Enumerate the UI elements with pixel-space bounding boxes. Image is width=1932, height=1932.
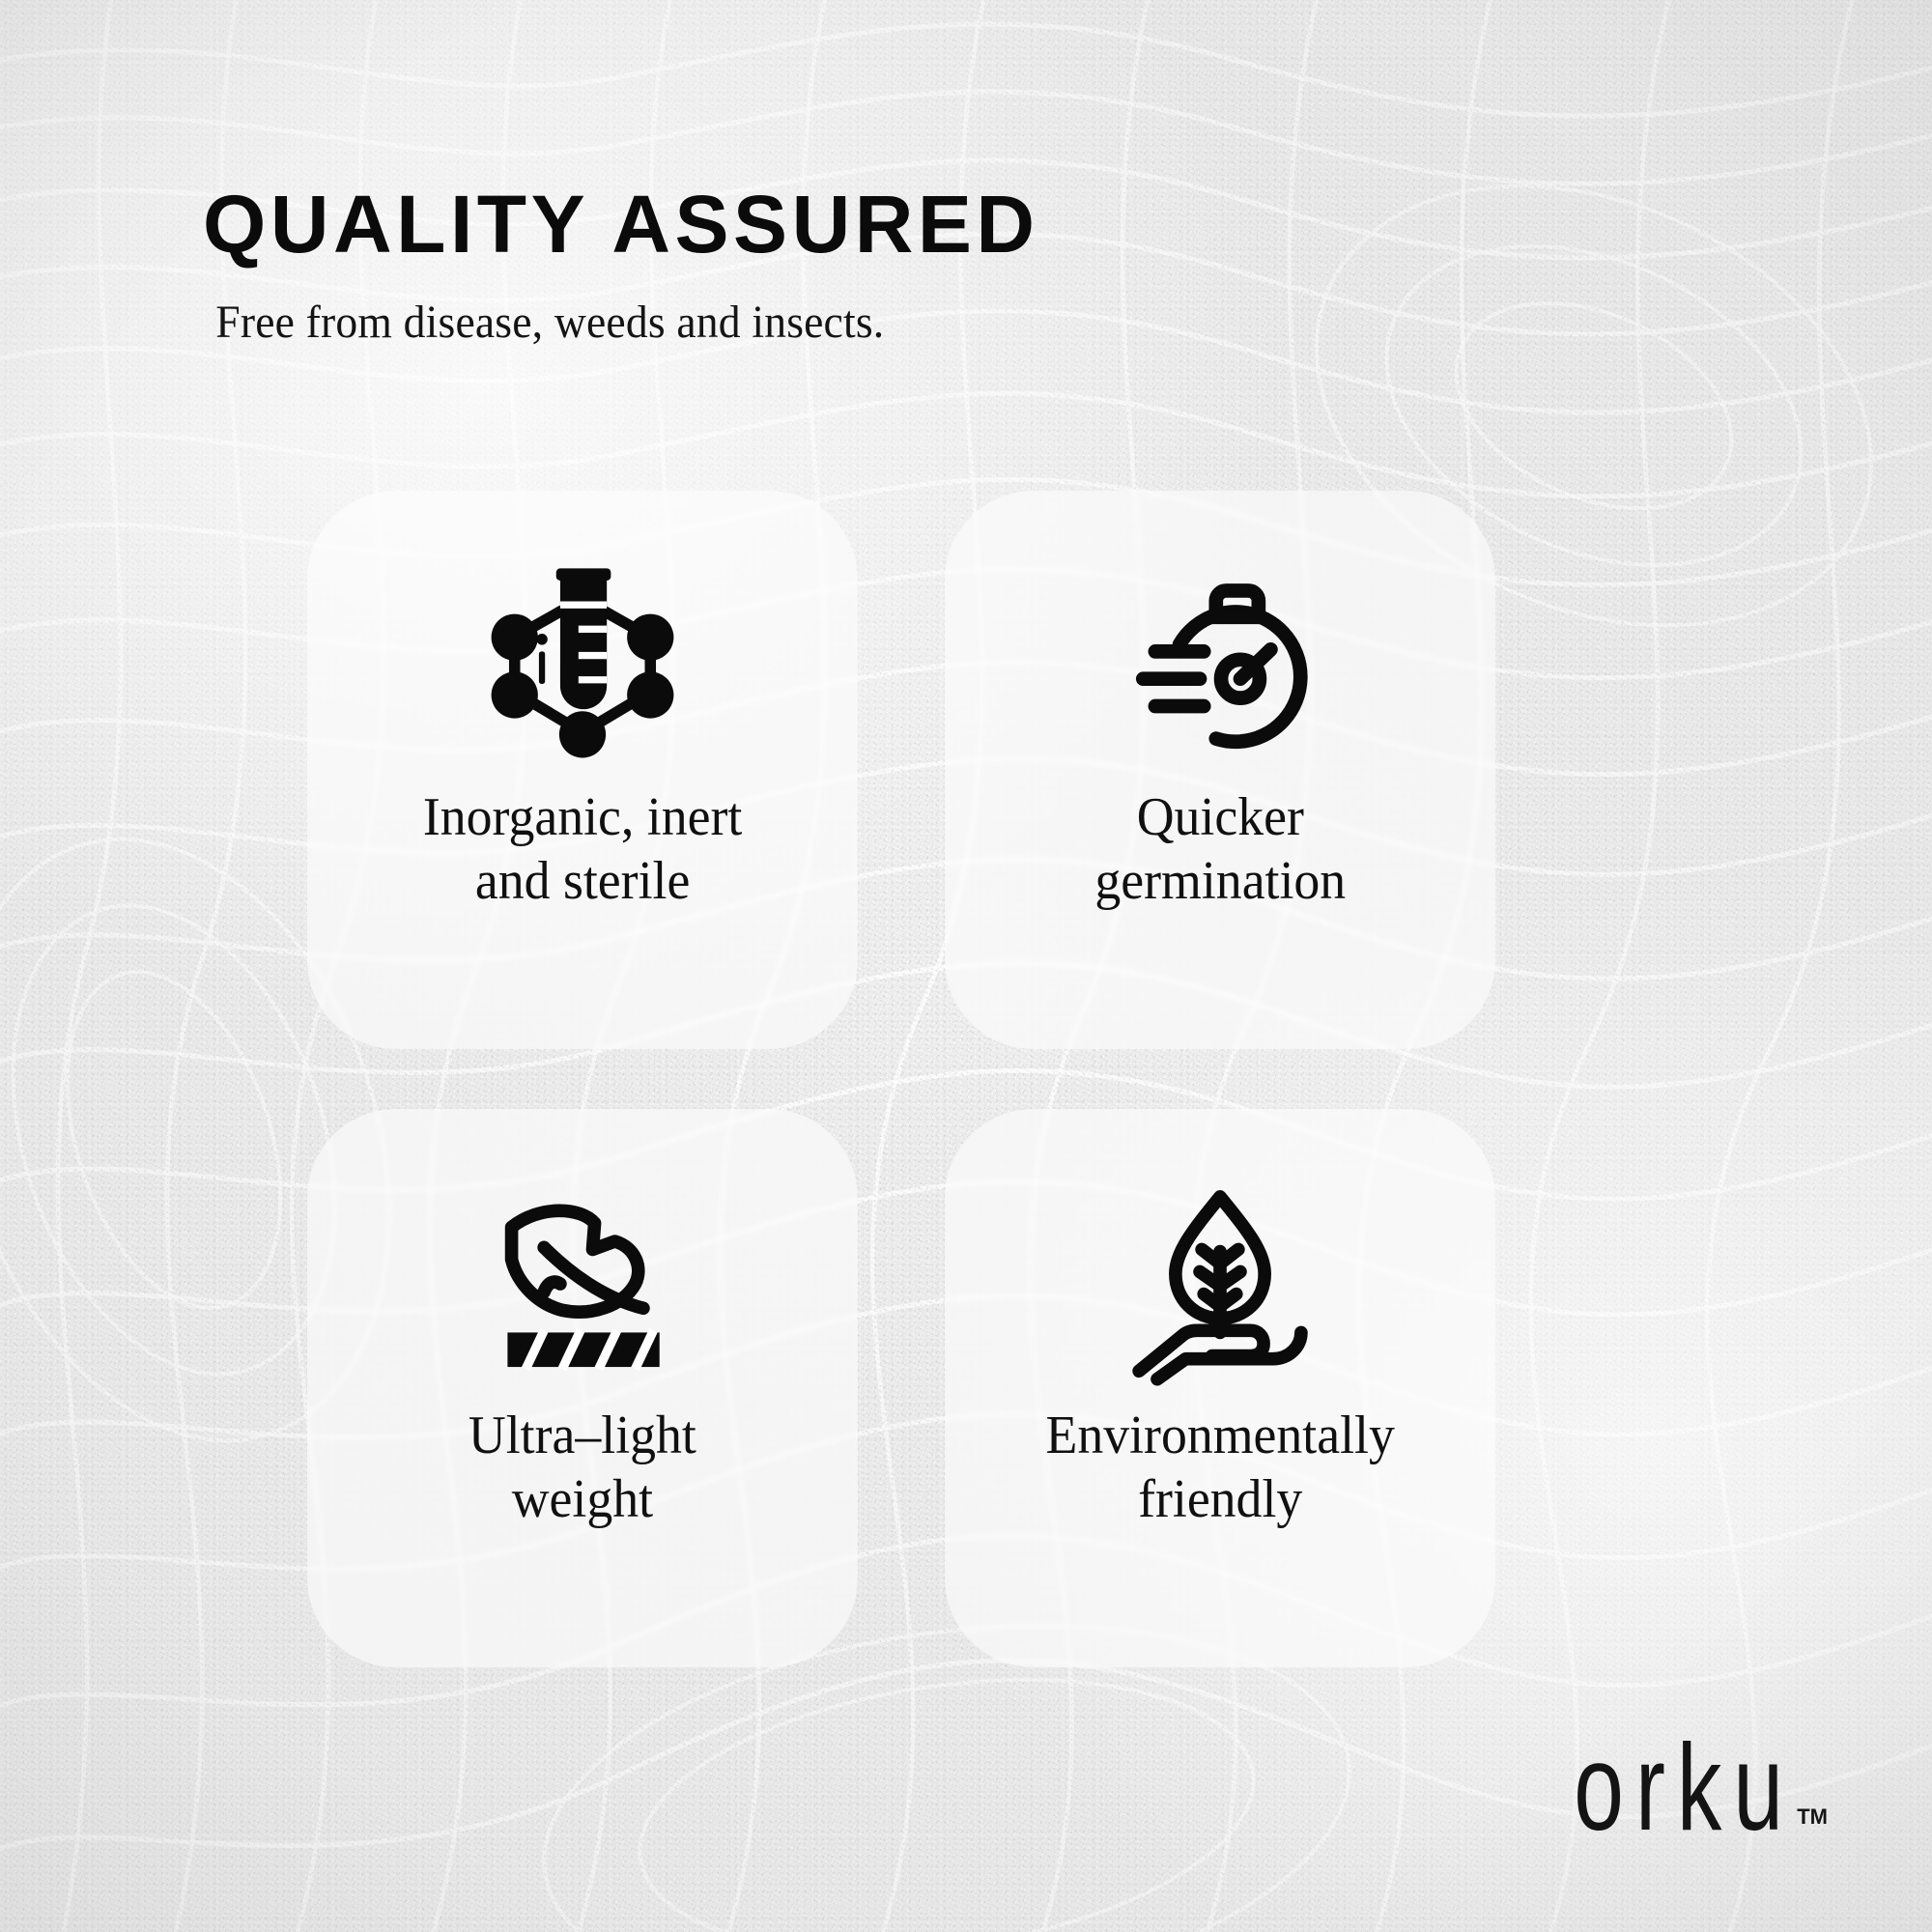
- feature-card-label: Environmentally friendly: [1045, 1404, 1394, 1531]
- poster-canvas: QUALITY ASSURED Free from disease, weeds…: [0, 0, 1932, 1932]
- feature-label-line-1: Environmentally: [1045, 1406, 1394, 1465]
- feature-card-grid: Inorganic, inert and sterile: [307, 491, 1631, 1667]
- fast-stopwatch-icon: [1119, 560, 1321, 768]
- feature-label-line-1: Inorganic, inert: [423, 787, 742, 847]
- brand-logo-wordmark: orku: [1574, 1730, 1795, 1843]
- leaf-in-hand-icon: [1119, 1179, 1321, 1386]
- brand-logo: orku TM: [1538, 1747, 1828, 1843]
- feature-card-ultralight[interactable]: Ultra–light weight: [307, 1109, 858, 1667]
- header-block: QUALITY ASSURED Free from disease, weeds…: [203, 184, 1555, 349]
- feature-label-line-2: germination: [1094, 851, 1346, 911]
- feature-label-line-2: weight: [512, 1469, 653, 1529]
- feature-card-label: Ultra–light weight: [469, 1404, 696, 1531]
- trademark-symbol: TM: [1797, 1804, 1828, 1830]
- feature-card-germination[interactable]: Quicker germination: [945, 491, 1495, 1049]
- feature-card-label: Inorganic, inert and sterile: [423, 785, 742, 913]
- page-title: QUALITY ASSURED: [203, 184, 1555, 265]
- feather-on-layer-icon: [481, 1179, 684, 1386]
- page-subtitle: Free from disease, weeds and insects.: [203, 265, 1488, 349]
- feature-label-line-2: and sterile: [475, 851, 690, 911]
- feature-card-inorganic[interactable]: Inorganic, inert and sterile: [307, 491, 858, 1049]
- feature-label-line-2: friendly: [1138, 1469, 1302, 1529]
- molecule-test-tube-icon: [481, 560, 684, 768]
- feature-label-line-1: Quicker: [1136, 787, 1303, 847]
- feature-label-line-1: Ultra–light: [469, 1406, 696, 1465]
- feature-card-eco[interactable]: Environmentally friendly: [945, 1109, 1495, 1667]
- feature-card-label: Quicker germination: [1094, 785, 1346, 913]
